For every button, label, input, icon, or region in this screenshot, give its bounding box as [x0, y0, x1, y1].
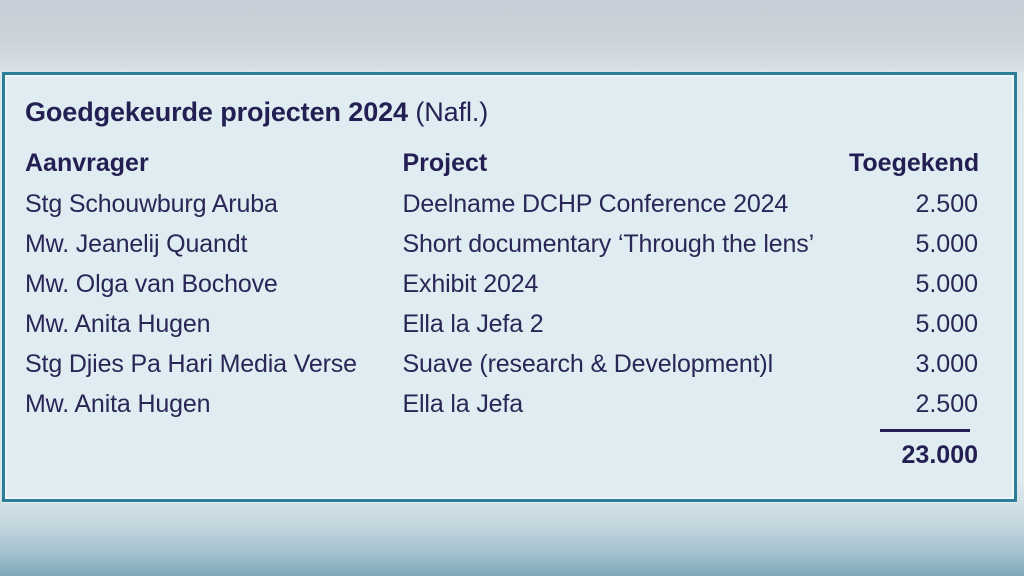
column-header-project: Project — [402, 143, 849, 184]
cell-amount: 2.500 — [849, 184, 986, 224]
column-header-amount: Toegekend — [849, 143, 986, 184]
cell-amount: 2.500 — [849, 384, 986, 424]
cell-amount: 3.000 — [849, 344, 986, 384]
total-amount-value: 23.000 — [902, 441, 978, 469]
cell-amount: 5.000 — [849, 224, 986, 264]
table-row: Mw. Anita Hugen Ella la Jefa 2 5.000 — [25, 304, 986, 344]
approved-projects-table: Aanvrager Project Toegekend Stg Schouwbu… — [25, 143, 986, 475]
cell-applicant: Stg Schouwburg Aruba — [25, 184, 402, 224]
approved-projects-card: Goedgekeurde projecten 2024 (Nafl.) Aanv… — [2, 72, 1017, 502]
cell-applicant: Mw. Anita Hugen — [25, 384, 402, 424]
total-spacer-applicant — [25, 424, 402, 475]
total-spacer-project — [402, 424, 849, 475]
cell-amount: 5.000 — [849, 264, 986, 304]
table-body: Stg Schouwburg Aruba Deelname DCHP Confe… — [25, 184, 986, 475]
cell-applicant: Stg Djies Pa Hari Media Verse — [25, 344, 402, 384]
table-row: Mw. Olga van Bochove Exhibit 2024 5.000 — [25, 264, 986, 304]
cell-project: Deelname DCHP Conference 2024 — [402, 184, 849, 224]
cell-total-amount: 23.000 — [849, 424, 986, 475]
cell-project: Short documentary ‘Through the lens’ — [402, 224, 849, 264]
cell-applicant: Mw. Olga van Bochove — [25, 264, 402, 304]
table-row: Stg Djies Pa Hari Media Verse Suave (res… — [25, 344, 986, 384]
cell-applicant: Mw. Anita Hugen — [25, 304, 402, 344]
card-content: Goedgekeurde projecten 2024 (Nafl.) Aanv… — [5, 75, 1014, 499]
page-title-currency: (Nafl.) — [415, 97, 488, 127]
table-row: Stg Schouwburg Aruba Deelname DCHP Confe… — [25, 184, 986, 224]
page-title: Goedgekeurde projecten 2024 (Nafl.) — [25, 95, 986, 129]
table-header: Aanvrager Project Toegekend — [25, 143, 986, 184]
cell-amount: 5.000 — [849, 304, 986, 344]
cell-project: Exhibit 2024 — [402, 264, 849, 304]
table-row: Mw. Jeanelij Quandt Short documentary ‘T… — [25, 224, 986, 264]
cell-applicant: Mw. Jeanelij Quandt — [25, 224, 402, 264]
total-separator-rule — [880, 429, 970, 432]
cell-project: Suave (research & Development)l — [402, 344, 849, 384]
background-stage: Goedgekeurde projecten 2024 (Nafl.) Aanv… — [0, 0, 1024, 576]
table-header-row: Aanvrager Project Toegekend — [25, 143, 986, 184]
page-title-main: Goedgekeurde projecten 2024 — [25, 97, 408, 127]
table-total-row: 23.000 — [25, 424, 986, 475]
column-header-applicant: Aanvrager — [25, 143, 402, 184]
cell-project: Ella la Jefa 2 — [402, 304, 849, 344]
table-row: Mw. Anita Hugen Ella la Jefa 2.500 — [25, 384, 986, 424]
cell-project: Ella la Jefa — [402, 384, 849, 424]
